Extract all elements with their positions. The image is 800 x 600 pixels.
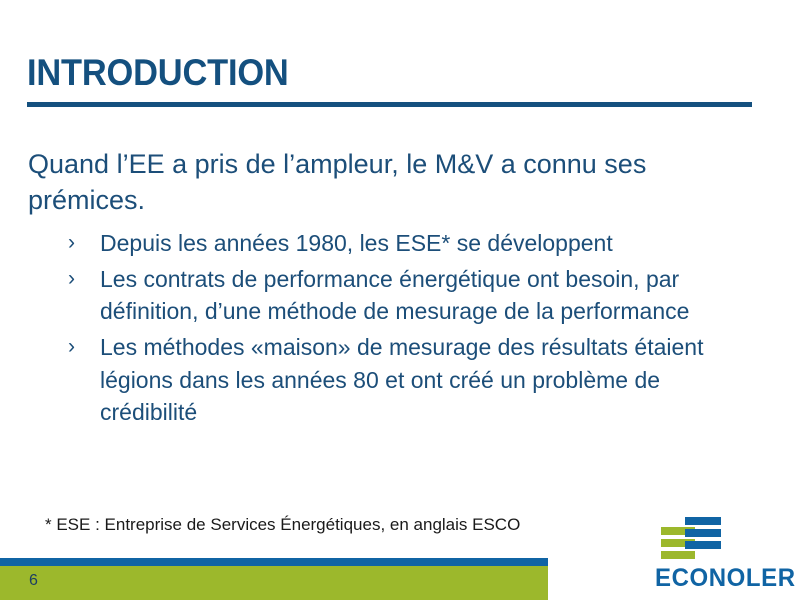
chevron-right-icon: › [68, 331, 100, 362]
list-item-text: Depuis les années 1980, les ESE* se déve… [100, 227, 728, 260]
lead-paragraph: Quand l’EE a pris de l’ampleur, le M&V a… [28, 147, 708, 219]
bullet-list: › Depuis les années 1980, les ESE* se dé… [68, 227, 728, 432]
footer-blue-stripe [0, 558, 548, 566]
footnote: * ESE : Entreprise de Services Énergétiq… [45, 515, 520, 535]
econoler-bars-icon [659, 516, 729, 560]
slide: INTRODUCTION Quand l’EE a pris de l’ampl… [0, 0, 800, 600]
list-item: › Depuis les années 1980, les ESE* se dé… [68, 227, 728, 260]
list-item-text: Les méthodes «maison» de mesurage des ré… [100, 331, 728, 429]
page-title: INTRODUCTION [27, 52, 289, 94]
chevron-right-icon: › [68, 263, 100, 294]
list-item-text: Les contrats de performance énergétique … [100, 263, 728, 328]
title-divider [27, 102, 752, 107]
econoler-logo: ECONOLER [655, 516, 800, 596]
page-number: 6 [29, 572, 38, 590]
list-item: › Les méthodes «maison» de mesurage des … [68, 331, 728, 429]
chevron-right-icon: › [68, 227, 100, 258]
econoler-wordmark: ECONOLER [655, 564, 796, 593]
footer-green-bar [0, 566, 548, 600]
list-item: › Les contrats de performance énergétiqu… [68, 263, 728, 328]
